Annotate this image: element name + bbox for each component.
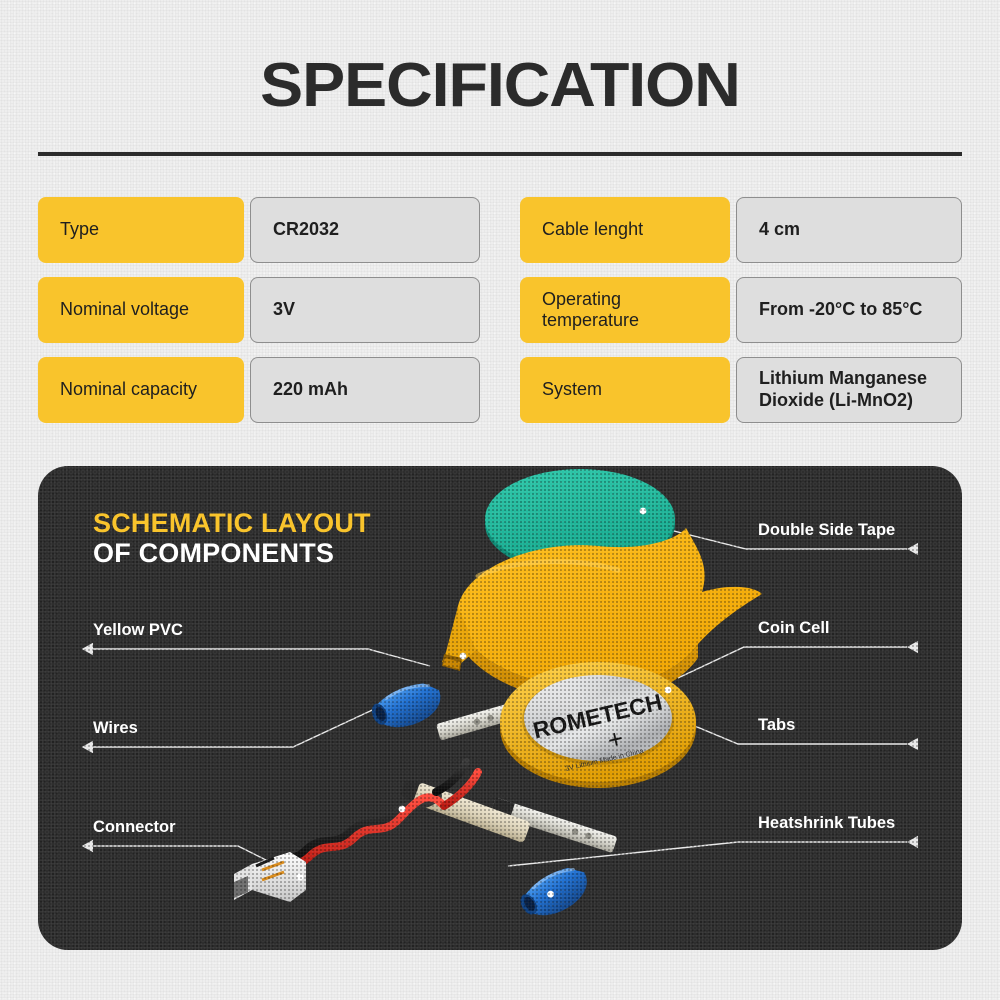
spec-label: Operating temperature bbox=[520, 277, 730, 343]
spec-label: Cable lenght bbox=[520, 197, 730, 263]
callout-wires: Wires bbox=[93, 719, 138, 738]
spec-column-right: Cable lenght 4 cm Operating temperature … bbox=[520, 197, 962, 423]
spec-row: Cable lenght 4 cm bbox=[520, 197, 962, 263]
leader-lines-left bbox=[93, 649, 430, 877]
schematic-heading: SCHEMATIC LAYOUT OF COMPONENTS bbox=[93, 508, 371, 568]
page-title: SPECIFICATION bbox=[0, 50, 1000, 121]
spec-value: 220 mAh bbox=[250, 357, 480, 423]
title-divider bbox=[38, 152, 962, 156]
specification-table: Type CR2032 Nominal voltage 3V Nominal c… bbox=[38, 197, 962, 423]
spec-row: Nominal voltage 3V bbox=[38, 277, 480, 343]
wires-part bbox=[270, 762, 478, 870]
spec-value: 4 cm bbox=[736, 197, 962, 263]
spec-label: Type bbox=[38, 197, 244, 263]
schematic-panel: ROMETECH + 3V Lithium Made in China bbox=[38, 466, 962, 950]
spec-value: From -20°C to 85°C bbox=[736, 277, 962, 343]
spec-row: Type CR2032 bbox=[38, 197, 480, 263]
coin-cell-part: ROMETECH + 3V Lithium Made in China bbox=[500, 662, 696, 788]
schematic-heading-line2: OF COMPONENTS bbox=[93, 538, 371, 568]
spec-column-left: Type CR2032 Nominal voltage 3V Nominal c… bbox=[38, 197, 480, 423]
spec-value: CR2032 bbox=[250, 197, 480, 263]
connector-part bbox=[234, 852, 306, 902]
heatshrink-tube-upper bbox=[367, 676, 447, 738]
spec-row: System Lithium Manganese Dioxide (Li-MnO… bbox=[520, 357, 962, 423]
callout-double-side-tape: Double Side Tape bbox=[758, 521, 895, 540]
spec-label: System bbox=[520, 357, 730, 423]
callout-coin-cell: Coin Cell bbox=[758, 619, 830, 638]
spec-value: 3V bbox=[250, 277, 480, 343]
callout-tabs: Tabs bbox=[758, 716, 795, 735]
callout-yellow-pvc: Yellow PVC bbox=[93, 621, 183, 640]
spec-value: Lithium Manganese Dioxide (Li-MnO2) bbox=[736, 357, 962, 423]
schematic-heading-line1: SCHEMATIC LAYOUT bbox=[93, 508, 371, 538]
spec-label: Nominal voltage bbox=[38, 277, 244, 343]
spec-label: Nominal capacity bbox=[38, 357, 244, 423]
callout-heatshrink-tubes: Heatshrink Tubes bbox=[758, 814, 895, 833]
heatshrink-tube-lower bbox=[515, 859, 595, 927]
spec-row: Operating temperature From -20°C to 85°C bbox=[520, 277, 962, 343]
spec-row: Nominal capacity 220 mAh bbox=[38, 357, 480, 423]
callout-connector: Connector bbox=[93, 818, 176, 837]
